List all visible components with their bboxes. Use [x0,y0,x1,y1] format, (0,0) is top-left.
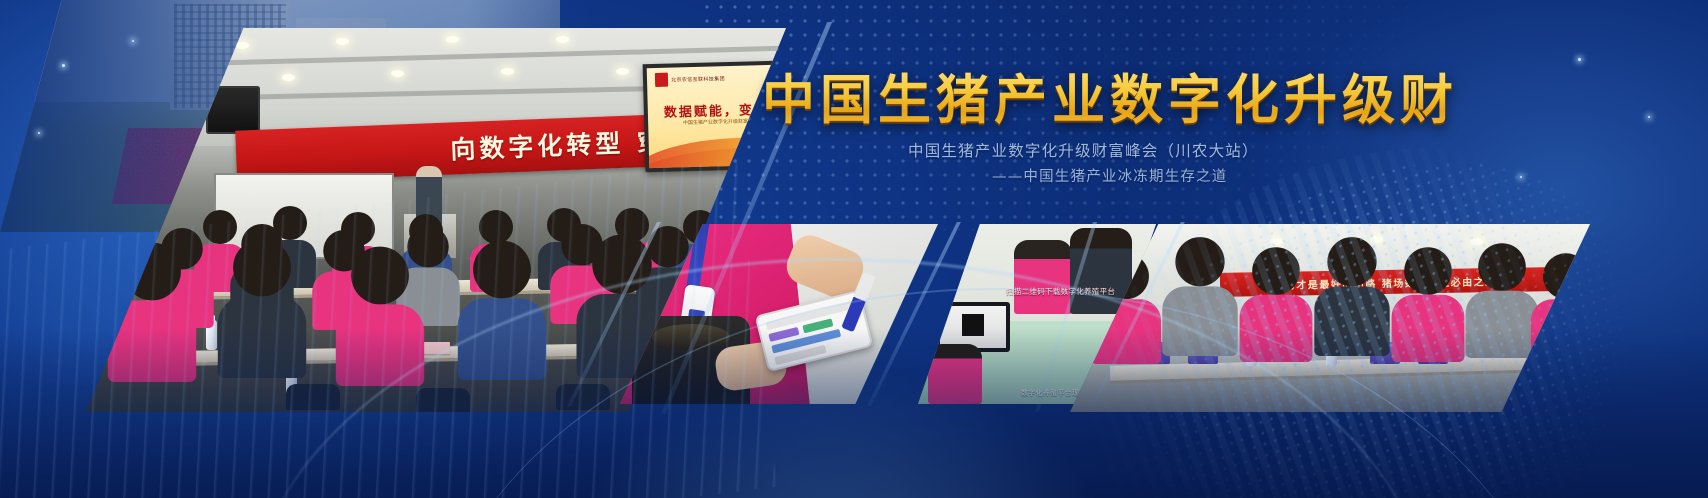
hall-chair [416,388,470,412]
standing-attendee [1531,253,1590,364]
hall-ceiling-light [282,74,295,81]
standing-attendee [1466,243,1539,358]
hall-ceiling-light [391,70,404,77]
banner-subtitle-block: 中国生猪产业数字化升级财富峰会（川农大站） ——中国生猪产业冰冻期生存之道 [908,139,1448,186]
banner-subtitle-line2: ——中国生猪产业冰冻期生存之道 [992,165,1448,186]
standing-attendee [1314,237,1389,356]
registration-attendee [1014,240,1072,314]
standing-attendee [1240,247,1313,362]
hall-ceiling-light [1270,238,1283,245]
hall-chair [556,384,610,410]
banner-title-block: 中国生猪产业数字化升级财富峰会 中国生猪产业数字化升级财富峰会 [762,58,1452,134]
appliance-lid [652,324,730,350]
hall-attendee [458,241,546,380]
summit-banner: 四川农业大学 [0,0,1708,498]
hall-attendee [336,247,424,386]
hall-chair [286,384,340,410]
poster-logo-text: 北京农信互联科技集团 [671,75,725,83]
standing-attendee [1392,247,1465,362]
poster-logo: 北京农信互联科技集团 [655,71,725,87]
qr-code [962,314,984,336]
hall-ceiling-light [616,68,629,75]
banner-subtitle-line1: 中国生猪产业数字化升级财富峰会（川农大站） [908,139,1448,161]
hall-ceiling-light [236,42,249,49]
hall-ceiling-light [446,36,459,43]
registration-screen [940,306,1006,348]
poster-logo-mark [655,73,668,87]
poster-wave-front [647,135,786,168]
standing-attendee [1162,237,1237,356]
hall-ceiling-light [501,68,514,75]
standing-audience-photo: 学习才是最好的出路 猪场数字化是必由之路 [1070,224,1590,412]
poster-footer: 农信互联·猪联网 [776,152,786,159]
hall-ceiling-light [556,36,569,43]
banner-title: 中国生猪产业数字化升级财富峰会 [762,58,1452,134]
hall-ceiling-light [336,38,349,45]
hall-attendee [218,239,306,378]
hall-attendee [108,243,196,382]
